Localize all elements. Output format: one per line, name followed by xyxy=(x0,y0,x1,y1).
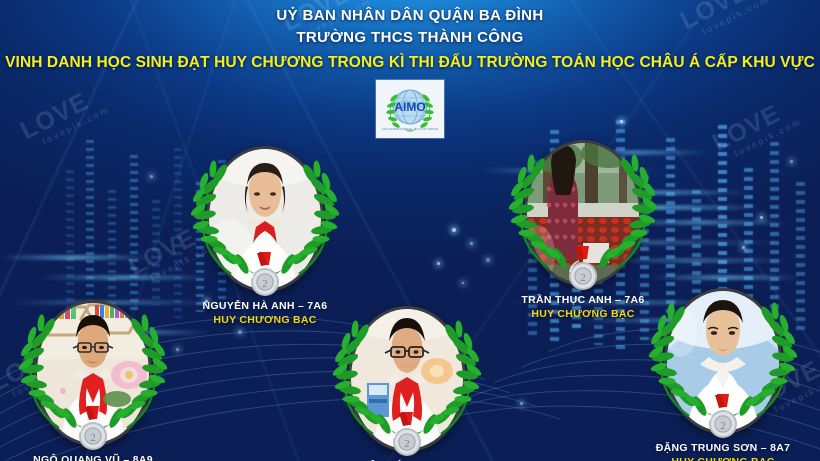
student-photo-frame: 2 xyxy=(190,146,340,296)
student-card: 2 ĐẶNG TRUNG SƠN – 8A7 HUY CHƯƠNG BẠC xyxy=(638,288,808,461)
svg-text:ASIA INTERNATIONAL MATH OLYMPI: ASIA INTERNATIONAL MATH OLYMPIAD xyxy=(382,127,439,131)
svg-text:2: 2 xyxy=(720,420,726,432)
lovepik-watermark: LOVElovepik.com xyxy=(17,82,111,153)
student-photo-frame: 2 xyxy=(18,300,168,450)
header-line-authority: UỶ BAN NHÂN DÂN QUẬN BA ĐÌNH xyxy=(0,6,820,26)
watermark-brand: LOVE xyxy=(17,82,107,144)
student-photo-frame: 2 xyxy=(508,140,658,290)
student-card: 2 NGÔ QUANG VŨ – 8A9 HUY CHƯƠNG BẠC xyxy=(8,300,178,461)
svg-text:2: 2 xyxy=(580,272,586,284)
watermark-brand: LOVE xyxy=(709,94,799,156)
student-name: ĐẶNG TRUNG SƠN – 8A7 xyxy=(638,442,808,454)
aimo-logo-text: AIMO xyxy=(394,100,425,114)
header-line-school: TRƯỜNG THCS THÀNH CÔNG xyxy=(0,28,820,48)
student-card: 2 NGUYỄN ĐỨC MINH – 8A9 HUY CHƯƠNG BẠC xyxy=(322,306,492,461)
student-name: NGÔ QUANG VŨ – 8A9 xyxy=(8,454,178,461)
svg-text:2: 2 xyxy=(90,432,96,444)
svg-text:2: 2 xyxy=(262,278,268,290)
aimo-logo: AIMO ASIA INTERNATIONAL MATH OLYMPIAD xyxy=(376,80,444,138)
watermark-domain: lovepik.com xyxy=(733,117,803,159)
award-poster: LOVElovepik.comLOVElovepik.comLOVElovepi… xyxy=(0,0,820,461)
student-award: HUY CHƯƠNG BẠC xyxy=(638,456,808,461)
lovepik-watermark: LOVElovepik.com xyxy=(709,94,803,165)
silver-medal-icon: 2 xyxy=(706,394,740,440)
poster-header: UỶ BAN NHÂN DÂN QUẬN BA ĐÌNH TRƯỜNG THCS… xyxy=(0,6,820,73)
svg-text:2: 2 xyxy=(404,438,410,450)
silver-medal-icon: 2 xyxy=(248,252,282,298)
silver-medal-icon: 2 xyxy=(390,412,424,458)
silver-medal-icon: 2 xyxy=(76,406,110,452)
watermark-domain: lovepik.com xyxy=(41,105,111,147)
student-photo-frame: 2 xyxy=(648,288,798,438)
page-title: VINH DANH HỌC SINH ĐẠT HUY CHƯƠNG TRONG … xyxy=(0,52,820,73)
silver-medal-icon: 2 xyxy=(566,246,600,292)
student-photo-frame: 2 xyxy=(332,306,482,456)
aimo-logo-icon: AIMO ASIA INTERNATIONAL MATH OLYMPIAD xyxy=(379,82,441,136)
student-card: 2 NGUYỄN HÀ ANH – 7A6 HUY CHƯƠNG BẠC xyxy=(180,146,350,326)
